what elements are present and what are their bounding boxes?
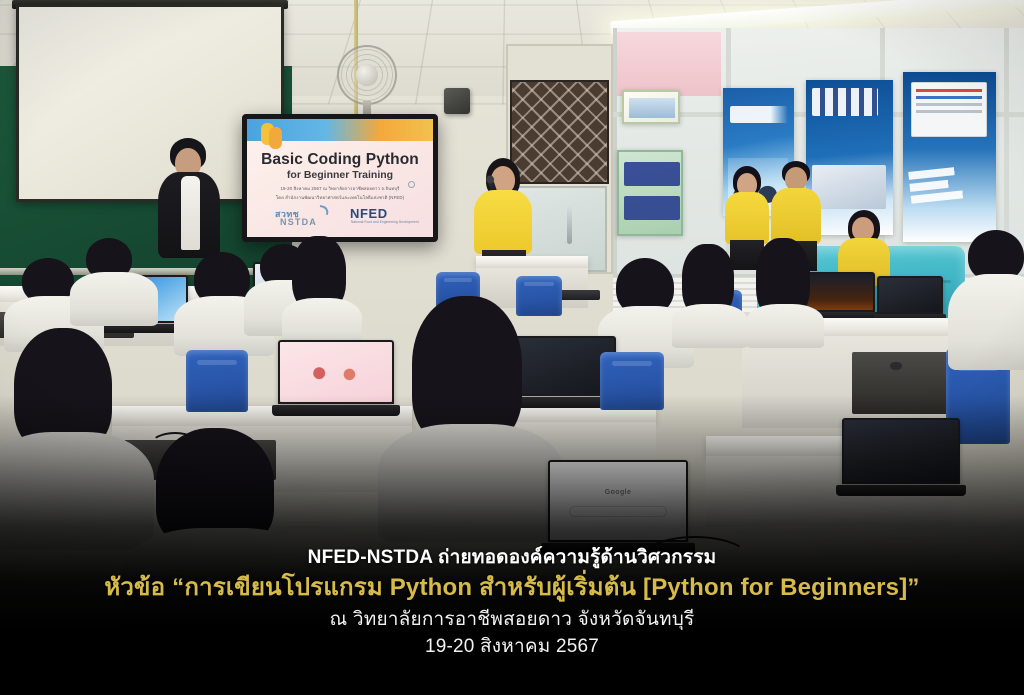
laptop-pink-cartoon[interactable]: [278, 340, 394, 416]
slide-bullet-icon: [408, 181, 415, 188]
presentation-display: Basic Coding Python for Beginner Trainin…: [242, 114, 438, 242]
fan-hub: [356, 64, 378, 86]
laptop-base: [272, 405, 400, 416]
notice-strip: [624, 162, 680, 186]
speaker-yellow-blouse: [474, 190, 532, 254]
python-logo-icon: [261, 123, 287, 149]
presentation-slide: Basic Coding Python for Beginner Trainin…: [247, 119, 433, 237]
poster-students-row: [812, 88, 878, 116]
blue-chair[interactable]: [186, 350, 248, 412]
caption-line-4-date: 19-20 สิงหาคม 2567: [0, 633, 1024, 661]
nfed-logo-eng: NFED: [350, 206, 388, 221]
student-long-hair: [672, 244, 746, 340]
laptop-base: [836, 485, 966, 496]
laptop-screen-dark: [879, 278, 941, 312]
google-search-box[interactable]: [569, 506, 667, 517]
caption-line-2-topic: หัวข้อ “การเขียนโปรแกรม Python สำหรับผู้…: [0, 571, 1024, 606]
nstda-logo-eng: NSTDA: [280, 217, 317, 227]
laptop-dark-front-right[interactable]: [842, 418, 960, 496]
staff-yellow-polo: [725, 192, 769, 244]
notice-strip: [624, 196, 680, 220]
presenter-black-blazer: [160, 138, 222, 260]
student-right-side: [950, 230, 1024, 362]
presenter-shirt: [181, 176, 200, 250]
caption-line-1: NFED-NSTDA ถ่ายทอดองค์ความรู้ด้านวิศวกรร…: [0, 545, 1024, 571]
poster-students-photo: [812, 165, 886, 209]
nfed-logo-sub: National Food and Engineering Developmen…: [351, 220, 419, 224]
student-back-row: [70, 238, 156, 324]
poster-screen-window: [911, 82, 987, 137]
student-long-hair: [280, 236, 360, 334]
poster-small: [622, 90, 680, 124]
caption-line-3-venue: ณ วิทยาลัยการอาชีพสอยดาว จังหวัดจันทบุรี: [0, 606, 1024, 634]
laptop-screen-dark: [844, 420, 958, 482]
blue-chair[interactable]: [600, 352, 664, 410]
wall-speaker-icon: [444, 88, 470, 114]
slide-title: Basic Coding Python: [247, 151, 433, 169]
student-foreground-left: [0, 328, 144, 528]
wall-fan-icon: [337, 45, 397, 105]
nstda-logo: สวทช NSTDA: [272, 207, 330, 229]
slide-detail-line2: โดย สำนักงานพัฒนาวิทยาศาสตร์และเทคโนโลยี…: [247, 194, 433, 201]
nstda-swoosh-icon: [318, 205, 330, 215]
training-photo: Basic Coding Python for Beginner Trainin…: [0, 0, 1024, 695]
nfed-logo: NFED National Food and Engineering Devel…: [350, 207, 408, 229]
poster-screen: [903, 72, 996, 242]
poster-job-search-title: [730, 106, 788, 123]
laptop-screen-google: Google: [550, 462, 686, 540]
laptop-screen-pink-cartoon: [280, 342, 392, 402]
slide-detail-line1: 19-20 สิงหาคม 2567 ณ วิทยาลัยการอาชีพสอย…: [247, 185, 433, 192]
desk-front-podium: [476, 256, 588, 268]
slide-subtitle: for Beginner Training: [247, 169, 433, 181]
desk-cubby: [852, 352, 948, 414]
laptop-dark-right[interactable]: [877, 276, 943, 322]
mouse[interactable]: [890, 362, 902, 370]
student-long-hair: [744, 238, 824, 342]
pink-wall-section: [617, 32, 721, 96]
slide-logos: สวทช NSTDA NFED National Food and Engine…: [247, 205, 433, 231]
notice-board-green: [617, 150, 683, 236]
door-handle[interactable]: [567, 206, 572, 244]
poster-screen-bars: [908, 164, 986, 210]
student-foreground-center: [390, 296, 550, 526]
caption-block: NFED-NSTDA ถ่ายทอดองค์ความรู้ด้านวิศวกรร…: [0, 545, 1024, 661]
google-logo-text: Google: [605, 489, 632, 496]
staff-yellow-polo: [771, 188, 821, 244]
